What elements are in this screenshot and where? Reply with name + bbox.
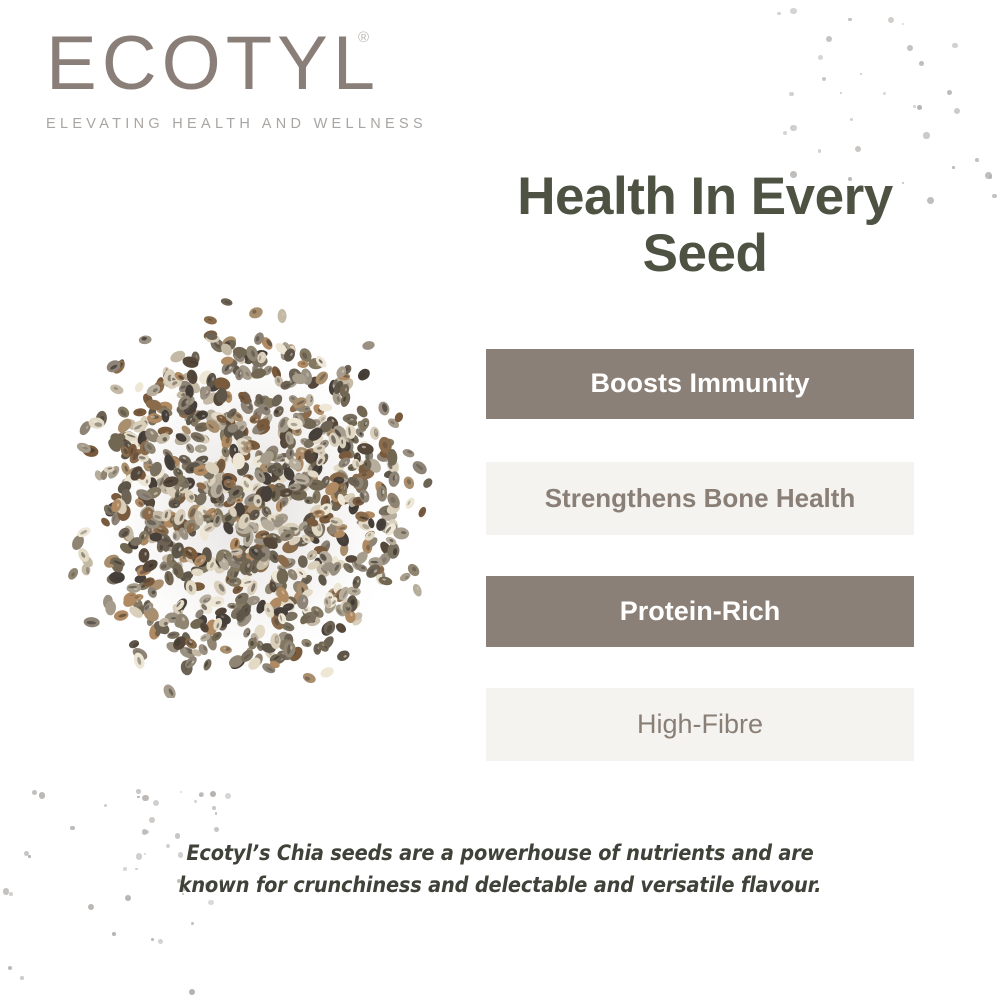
decorative-dot — [989, 175, 993, 179]
benefit-label: Protein-Rich — [606, 597, 795, 627]
decorative-dot — [136, 853, 143, 860]
decorative-dot — [954, 108, 960, 114]
brand-logo: ECOTYL ® ELEVATING HEALTH AND WELLNESS — [46, 26, 386, 132]
decorative-dot — [125, 895, 131, 901]
decorative-dot — [789, 92, 793, 96]
decorative-dot — [39, 792, 46, 799]
decorative-dot — [180, 791, 183, 794]
chia-seed — [363, 459, 371, 470]
benefit-label: Boosts Immunity — [576, 369, 823, 399]
decorative-dot — [199, 793, 202, 796]
decorative-dot — [151, 938, 154, 941]
decorative-dot — [144, 853, 146, 855]
decorative-dot — [848, 18, 852, 22]
decorative-dot — [212, 806, 216, 810]
decorative-dot — [210, 791, 216, 797]
decorative-dot — [24, 851, 29, 856]
decorative-dot — [145, 830, 149, 834]
decorative-dot — [840, 92, 842, 94]
chia-seed-speckle — [365, 462, 367, 465]
decorative-dot — [777, 12, 780, 15]
decorative-dot — [214, 827, 219, 832]
decorative-dot — [913, 105, 916, 108]
poster-canvas: ECOTYL ® ELEVATING HEALTH AND WELLNESS H… — [0, 0, 1000, 1001]
decorative-dot — [947, 90, 952, 95]
decorative-dot — [215, 812, 217, 814]
decorative-dot — [917, 105, 923, 111]
chia-seed-pile-image — [55, 268, 455, 698]
benefits-list: Boosts Immunity Strengthens Bone Health … — [486, 349, 914, 761]
registered-trademark-icon: ® — [358, 30, 369, 45]
chia-seed-speckle — [351, 599, 355, 605]
decorative-dot — [153, 800, 159, 806]
decorative-dot — [191, 922, 194, 925]
decorative-dot — [860, 73, 862, 75]
decorative-dot — [28, 855, 31, 858]
benefit-bar-high-fibre[interactable]: High-Fibre — [486, 688, 914, 761]
page-title: Health In Every Seed — [470, 168, 940, 282]
decorative-dot — [136, 789, 141, 794]
decorative-dot — [137, 796, 140, 799]
decorative-dot — [142, 829, 148, 835]
decorative-dot — [199, 792, 204, 797]
decorative-dot — [975, 158, 979, 162]
decorative-dot — [135, 868, 138, 871]
decorative-dot — [919, 61, 924, 66]
decorative-dot — [855, 146, 861, 152]
decorative-dot — [783, 131, 787, 135]
decorative-dot — [822, 77, 826, 81]
decorative-dot — [826, 36, 832, 42]
decorative-dot — [923, 132, 929, 138]
decorative-dot — [790, 8, 797, 15]
decorative-dot — [9, 892, 13, 896]
decorative-dot — [189, 989, 195, 995]
decorative-dot — [818, 55, 823, 60]
decorative-dot — [902, 23, 904, 25]
benefit-bar-boosts-immunity[interactable]: Boosts Immunity — [486, 349, 914, 419]
headline-line-2: Seed — [643, 224, 768, 283]
decorative-dot — [883, 92, 886, 95]
decorative-dot — [985, 172, 992, 179]
brand-tagline: ELEVATING HEALTH AND WELLNESS — [46, 116, 386, 132]
brand-wordmark: ECOTYL ® — [46, 26, 386, 102]
decorative-dot — [952, 166, 955, 169]
benefit-label: High-Fibre — [623, 710, 777, 740]
caption-line-2: crunchiness and delectable and versatile… — [293, 873, 821, 898]
decorative-dot — [888, 17, 894, 23]
benefit-bar-protein-rich[interactable]: Protein-Rich — [486, 576, 914, 647]
decorative-dot — [790, 125, 796, 131]
decorative-dot — [952, 43, 957, 48]
decorative-dot — [158, 939, 163, 944]
decorative-dot — [123, 867, 127, 871]
decorative-dot — [149, 817, 155, 823]
decorative-dot — [8, 966, 12, 970]
decorative-dot — [850, 118, 854, 122]
decorative-dot — [194, 800, 197, 803]
decorative-dot — [104, 804, 107, 807]
brand-wordmark-text: ECOTYL — [46, 21, 380, 106]
chia-seed-illustration — [55, 268, 455, 698]
benefit-label: Strengthens Bone Health — [531, 484, 870, 513]
benefit-bar-strengthens-bone-health[interactable]: Strengthens Bone Health — [486, 462, 914, 535]
decorative-dot — [88, 904, 94, 910]
product-description: Ecotyl’s Chia seeds are a powerhouse of … — [158, 838, 842, 902]
decorative-dot — [20, 976, 24, 980]
decorative-dot — [818, 149, 822, 153]
decorative-dot — [112, 932, 116, 936]
decorative-dot — [70, 826, 75, 831]
decorative-dot — [32, 790, 37, 795]
decorative-dot — [225, 793, 231, 799]
decorative-dot — [992, 194, 997, 199]
decorative-dot — [3, 888, 10, 895]
chia-seed-speckle — [115, 577, 124, 581]
decorative-dot — [142, 795, 149, 802]
headline-line-1: Health In Every — [517, 167, 892, 226]
decorative-dot — [907, 45, 913, 51]
